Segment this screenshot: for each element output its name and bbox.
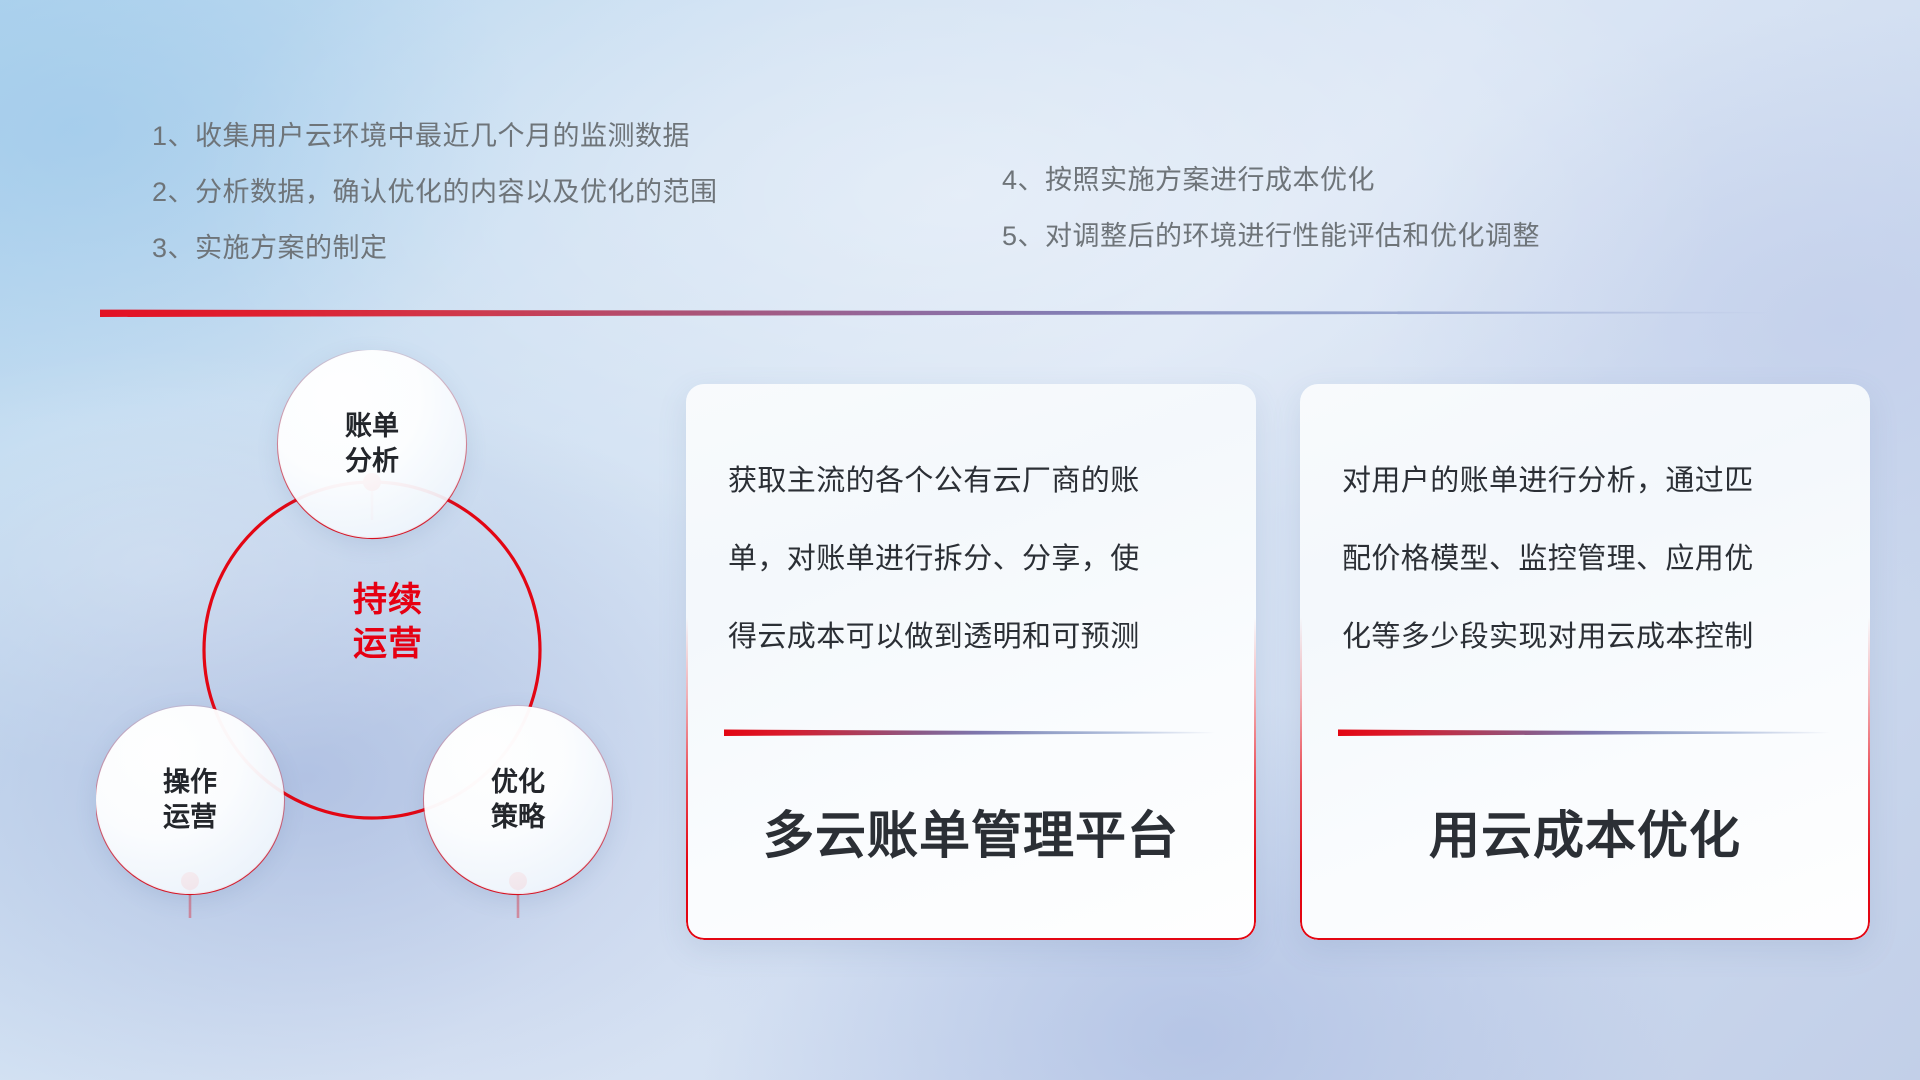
steps-list-left: 1、收集用户云环境中最近几个月的监测数据 2、分析数据，确认优化的内容以及优化的… (152, 108, 718, 276)
step-item-2: 2、分析数据，确认优化的内容以及优化的范围 (152, 164, 718, 220)
steps-list-right: 4、按照实施方案进行成本优化 5、对调整后的环境进行性能评估和优化调整 (1002, 152, 1540, 264)
bubble-top-line-1: 账单 (345, 409, 399, 444)
diagram-center-label: 持续 运营 (308, 578, 468, 666)
card-1-body: 获取主流的各个公有云厂商的账 单，对账单进行拆分、分享，使 得云成本可以做到透明… (728, 442, 1222, 676)
card-1-title: 多云账单管理平台 (686, 794, 1256, 868)
card-2-body-line-3: 化等多少段实现对用云成本控制 (1342, 598, 1836, 676)
bubble-right-line-2: 策略 (491, 800, 545, 835)
cycle-diagram: 账单 分析 操作 运营 优化 策略 持续 运营 (96, 350, 666, 960)
section-divider (100, 308, 1770, 317)
bubble-right-line-1: 优化 (491, 765, 545, 800)
feature-card-multicloud-billing[interactable]: 获取主流的各个公有云厂商的账 单，对账单进行拆分、分享，使 得云成本可以做到透明… (686, 384, 1256, 940)
step-item-1: 1、收集用户云环境中最近几个月的监测数据 (152, 108, 718, 164)
card-1-body-line-2: 单，对账单进行拆分、分享，使 (728, 520, 1222, 598)
step-item-3: 3、实施方案的制定 (152, 220, 718, 276)
card-2-body-line-2: 配价格模型、监控管理、应用优 (1342, 520, 1836, 598)
card-1-body-line-1: 获取主流的各个公有云厂商的账 (728, 442, 1222, 520)
card-2-title: 用云成本优化 (1300, 794, 1870, 868)
step-item-5: 5、对调整后的环境进行性能评估和优化调整 (1002, 208, 1540, 264)
card-2-body: 对用户的账单进行分析，通过匹 配价格模型、监控管理、应用优 化等多少段实现对用云… (1342, 442, 1836, 676)
card-1-body-line-3: 得云成本可以做到透明和可预测 (728, 598, 1222, 676)
bubble-top-line-2: 分析 (345, 444, 399, 479)
card-2-divider (1338, 729, 1830, 736)
card-2-body-line-1: 对用户的账单进行分析，通过匹 (1342, 442, 1836, 520)
center-label-line-2: 运营 (308, 622, 468, 666)
card-1-divider (724, 729, 1216, 736)
feature-card-cost-optimization[interactable]: 对用户的账单进行分析，通过匹 配价格模型、监控管理、应用优 化等多少段实现对用云… (1300, 384, 1870, 940)
center-label-line-1: 持续 (308, 578, 468, 622)
bubble-operations[interactable]: 操作 运营 (96, 706, 284, 894)
step-item-4: 4、按照实施方案进行成本优化 (1002, 152, 1540, 208)
bubble-left-line-2: 运营 (163, 800, 217, 835)
slide-canvas: 1、收集用户云环境中最近几个月的监测数据 2、分析数据，确认优化的内容以及优化的… (0, 0, 1920, 1080)
bubble-optimization-strategy[interactable]: 优化 策略 (424, 706, 612, 894)
bubble-left-line-1: 操作 (163, 765, 217, 800)
bubble-billing-analysis[interactable]: 账单 分析 (278, 350, 466, 538)
